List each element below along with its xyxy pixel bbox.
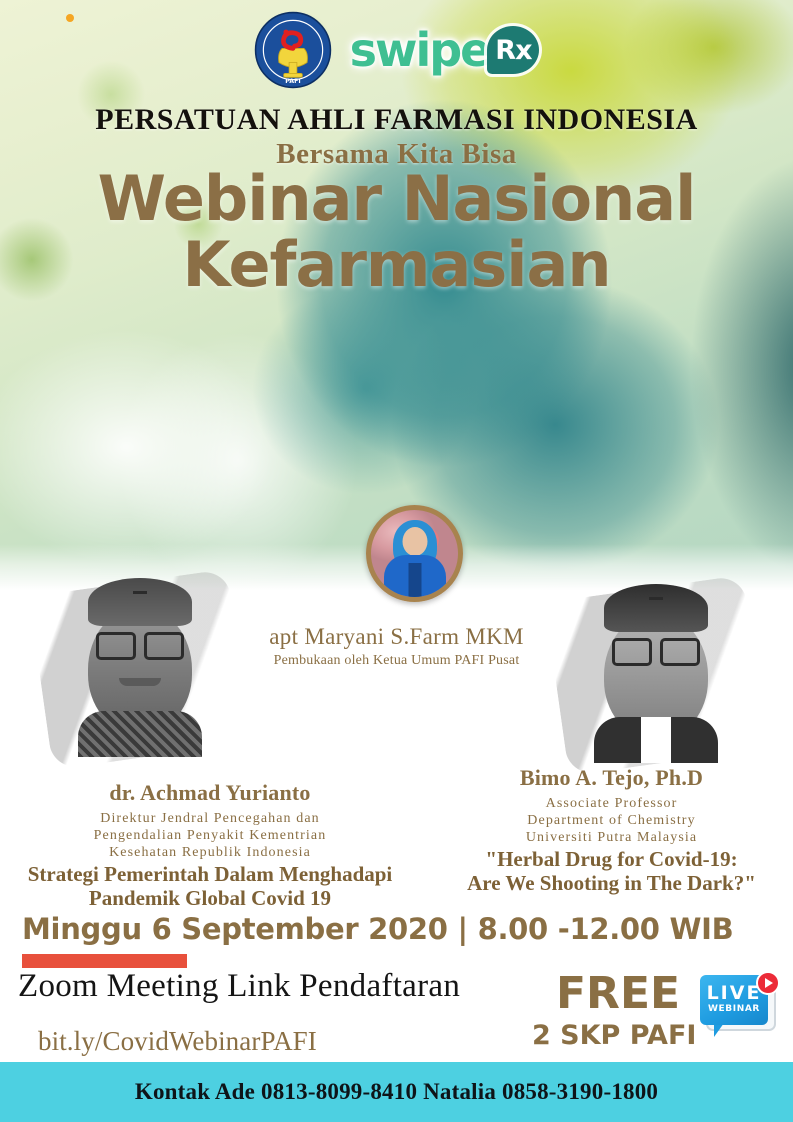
rx-bubble-icon: Rx [487,26,539,74]
left-speaker-glasses-bridge [133,591,147,594]
live-badge-live-text: LIVE [707,984,762,1003]
price-free-label: FREE [556,968,680,1019]
left-speaker-topic-line1: Strategi Pemerintah Dalam Menghadapi [0,863,420,887]
right-speaker-topic-line2: Are We Shooting in The Dark?" [430,872,793,896]
rx-text: Rx [495,37,531,64]
right-speaker-affiliation-line1: Associate Professor [430,795,793,812]
left-speaker-topic: Strategi Pemerintah Dalam Menghadapi Pan… [0,863,420,910]
contact-bar: Kontak Ade 0813-8099-8410 Natalia 0858-3… [0,1062,793,1122]
left-speaker-affiliation-line3: Kesehatan Republik Indonesia [0,844,420,861]
play-button-icon [756,971,780,995]
right-speaker-name: Bimo A. Tejo, Ph.D [430,765,793,791]
swipe-i-dot [66,14,74,22]
red-underline-bar [22,954,187,968]
right-speaker-hair [604,584,708,632]
main-title-line1: Webinar Nasional [98,162,696,235]
registration-link[interactable]: bit.ly/CovidWebinarPAFI [38,1026,317,1057]
left-speaker-affiliation-line1: Direktur Jendral Pencegahan dan [0,810,420,827]
left-speaker-affiliation-line2: Pengendalian Penyakit Kementrian [0,827,420,844]
left-speaker-batik-shirt [78,711,202,757]
event-datetime: Minggu 6 September 2020 | 8.00 -12.00 WI… [22,912,733,946]
center-speaker-face [402,527,427,556]
left-speaker-glasses-icon [96,632,184,654]
left-speaker-affiliation: Direktur Jendral Pencegahan dan Pengenda… [0,810,420,861]
swipe-wordmark: swipe [350,27,490,73]
right-speaker-topic: "Herbal Drug for Covid-19: Are We Shooti… [430,848,793,895]
live-badge-webinar-text: WEBINAR [708,1003,760,1016]
contact-text: Kontak Ade 0813-8099-8410 Natalia 0858-3… [135,1079,658,1105]
right-speaker-photo [556,588,756,763]
right-speaker-glasses-bridge [649,597,663,600]
left-speaker-info: dr. Achmad Yurianto Direktur Jendral Pen… [0,780,420,910]
organization-name: PERSATUAN AHLI FARMASI INDONESIA [0,103,793,137]
main-title-line2: Kefarmasian [0,234,793,296]
right-speaker-topic-line1: "Herbal Drug for Covid-19: [430,848,793,872]
logo-row: PAFI swipe Rx [0,8,793,92]
left-speaker-hair [88,578,192,626]
right-speaker-suit [594,717,718,763]
right-speaker-affiliation-line2: Department of Chemistry [430,812,793,829]
right-speaker-glasses-icon [612,638,700,660]
swiperx-logo: swipe Rx [350,26,540,74]
center-speaker-avatar [366,505,463,602]
right-speaker-info: Bimo A. Tejo, Ph.D Associate Professor D… [430,765,793,895]
credits-label: 2 SKP PAFI [532,1020,696,1051]
left-speaker-moustache [119,678,161,686]
svg-text:PAFI: PAFI [285,78,300,85]
center-speaker-lapel [408,563,421,597]
live-badge-speech-tail [714,1023,724,1037]
left-speaker-photo [40,582,240,757]
left-speaker-name: dr. Achmad Yurianto [0,780,420,806]
right-speaker-affiliation: Associate Professor Department of Chemis… [430,795,793,846]
pafi-logo-icon: PAFI [254,11,332,89]
right-speaker-affiliation-line3: Universiti Putra Malaysia [430,829,793,846]
live-webinar-badge: LIVE WEBINAR [700,975,778,1041]
left-speaker-topic-line2: Pandemik Global Covid 19 [0,887,420,911]
platform-registration-label: Zoom Meeting Link Pendaftaran [18,968,460,1005]
page-title: Webinar Nasional Kefarmasian [0,168,793,296]
webinar-poster: PAFI swipe Rx PERSATUAN AHLI FARMASI IND… [0,0,793,1122]
